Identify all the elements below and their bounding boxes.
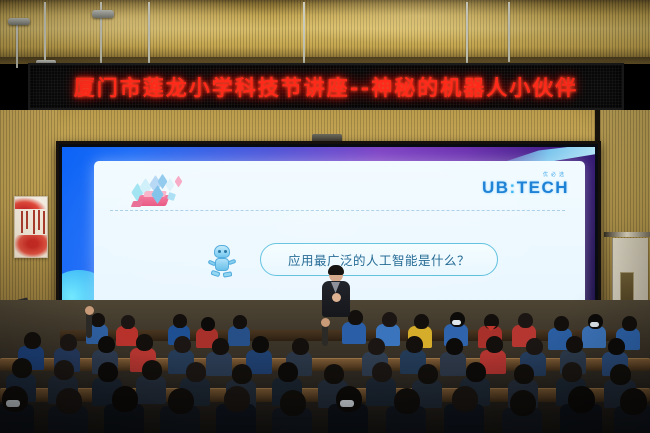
- student-head: [224, 386, 250, 412]
- student-head: [406, 336, 423, 353]
- student-head: [232, 364, 252, 384]
- student-head: [418, 364, 438, 384]
- student-body: [228, 326, 250, 346]
- student-head: [452, 386, 478, 412]
- raised-hand: [85, 306, 94, 315]
- student-head: [252, 336, 269, 353]
- upper-wood-wall: [0, 0, 650, 60]
- logo-tech: TECH: [517, 178, 569, 197]
- student-head: [60, 334, 77, 351]
- student-head: [608, 338, 625, 355]
- hanging-rod: [508, 2, 510, 62]
- card-divider: [110, 210, 565, 211]
- student-head: [518, 313, 533, 328]
- student-head: [233, 315, 247, 329]
- hanging-speaker: [8, 18, 30, 25]
- hanging-speaker: [92, 10, 114, 18]
- student-head: [142, 360, 162, 380]
- student-head: [212, 338, 229, 355]
- poster-text-line: [43, 211, 45, 234]
- student-head: [486, 336, 503, 353]
- student-head: [394, 388, 420, 414]
- student-head: [568, 386, 595, 413]
- student-head: [554, 316, 569, 331]
- student-head: [324, 364, 344, 384]
- auditorium-photo: 厦门市莲龙小学科技节讲座--神秘的机器人小伙伴: [0, 0, 650, 433]
- poster-bottom-art: [15, 235, 47, 257]
- student-head: [174, 336, 191, 353]
- student-head: [98, 362, 118, 382]
- student-head: [136, 334, 153, 351]
- student-head: [466, 362, 486, 382]
- student-head: [372, 362, 392, 382]
- student-head: [173, 314, 187, 328]
- robot-eye-left: [218, 250, 221, 253]
- face-mask-icon: [590, 322, 599, 327]
- student-head: [201, 317, 215, 331]
- student-head: [526, 338, 543, 355]
- raised-arm: [86, 312, 92, 338]
- student-body: [206, 352, 232, 376]
- presenter-hands: [332, 293, 341, 302]
- student-head: [24, 332, 41, 349]
- student-body: [116, 326, 138, 346]
- student-head: [2, 386, 28, 412]
- face-mask-icon: [340, 400, 354, 407]
- poster-text-line: [26, 211, 28, 229]
- poster-text-line: [38, 210, 40, 230]
- student-head: [610, 364, 631, 385]
- student-body: [582, 326, 606, 348]
- question-bubble: 应用最广泛的人工智能是什么？: [260, 243, 498, 276]
- banner-text: 厦门市莲龙小学科技节讲座--神秘的机器人小伙伴: [30, 72, 622, 102]
- robot-arm-right: [228, 259, 237, 265]
- robot-mascot-icon: [206, 245, 240, 281]
- hanging-rod: [16, 22, 18, 68]
- student-head: [56, 388, 82, 414]
- student-head: [168, 388, 194, 414]
- face-mask-icon: [452, 320, 461, 325]
- logo-separator-icon: :: [510, 178, 517, 197]
- hanging-rod: [303, 2, 305, 64]
- student-head: [620, 388, 647, 415]
- logo-ub: UB: [482, 178, 510, 197]
- led-banner: 厦门市莲龙小学科技节讲座--神秘的机器人小伙伴: [28, 63, 624, 110]
- student-head: [562, 362, 582, 382]
- student-head: [54, 360, 74, 380]
- presenter: [318, 266, 354, 328]
- student-head: [278, 362, 298, 382]
- student-head: [622, 316, 637, 331]
- student-body: [136, 376, 166, 404]
- face-mask-icon: [6, 400, 20, 407]
- hanging-rod: [466, 2, 468, 70]
- robot-eye-right: [224, 250, 227, 253]
- student-head: [292, 338, 309, 355]
- robot-head: [214, 245, 230, 258]
- student-head: [382, 312, 397, 327]
- student-head: [91, 313, 105, 327]
- student-head: [98, 336, 115, 353]
- poster-text-line: [33, 210, 35, 234]
- student-body: [366, 378, 396, 406]
- isometric-blocks-icon: [128, 175, 208, 213]
- logo-wordmark: UB:TECH: [482, 178, 569, 197]
- robot-body: [215, 258, 229, 271]
- student-head: [510, 390, 536, 416]
- poster-text-line: [21, 211, 23, 233]
- door-rail: [604, 232, 650, 237]
- student-head: [121, 315, 135, 329]
- student-head: [186, 362, 206, 382]
- student-head: [112, 386, 138, 412]
- student-body: [440, 352, 466, 376]
- student-head: [514, 364, 534, 384]
- robot-leg-right: [223, 271, 233, 277]
- student-head: [446, 338, 463, 355]
- wall-poster: [14, 196, 48, 258]
- question-text: 应用最广泛的人工智能是什么？: [288, 250, 470, 269]
- student-head: [368, 338, 385, 355]
- student-head: [566, 336, 583, 353]
- student-head: [280, 390, 306, 416]
- hanging-rod: [148, 2, 150, 68]
- presenter-hair: [328, 265, 344, 275]
- poster-top-art: [15, 197, 47, 209]
- student-head: [336, 386, 362, 412]
- ubtech-logo: 优必选 UB:TECH: [482, 173, 569, 197]
- student-head: [12, 358, 32, 378]
- student-head: [414, 314, 429, 329]
